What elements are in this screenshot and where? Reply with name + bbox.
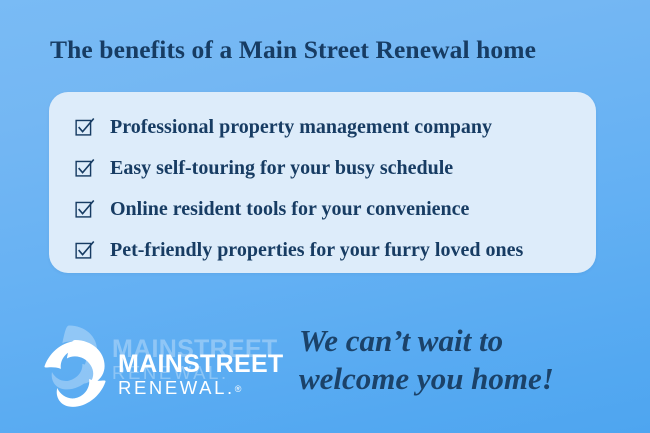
benefit-label: Professional property management company	[110, 116, 492, 138]
brand-logo-line2-text: RENEWAL.	[118, 377, 235, 398]
registered-trademark-icon: ®	[235, 384, 242, 394]
page-title: The benefits of a Main Street Renewal ho…	[50, 35, 610, 65]
checkbox-checked-icon	[75, 159, 94, 178]
brand-logo-solid-layer: MAINSTREET RENEWAL.®	[38, 332, 270, 416]
checkbox-checked-icon	[75, 118, 94, 137]
benefit-label: Easy self-touring for your busy schedule	[110, 157, 453, 179]
list-item: Pet-friendly properties for your furry l…	[75, 231, 582, 269]
benefit-label: Online resident tools for your convenien…	[110, 198, 469, 220]
list-item: Easy self-touring for your busy schedule	[75, 149, 582, 187]
list-item: Online resident tools for your convenien…	[75, 190, 582, 228]
mainstreet-pinwheel-logo-icon	[38, 337, 112, 411]
list-item: Professional property management company	[75, 108, 582, 146]
checkbox-checked-icon	[75, 200, 94, 219]
brand-logo-line1: MAINSTREET	[118, 351, 284, 377]
brand-logo-wordmark: MAINSTREET RENEWAL.®	[118, 348, 284, 400]
brand-logo-line2: RENEWAL.®	[118, 377, 284, 400]
promo-poster: The benefits of a Main Street Renewal ho…	[0, 0, 650, 433]
benefit-label: Pet-friendly properties for your furry l…	[110, 239, 523, 261]
tagline-line-1: We can’t wait to	[299, 322, 629, 360]
checkbox-checked-icon	[75, 241, 94, 260]
brand-logo: MAINSTREET RENEWAL. MAINSTREET RENEWAL.®	[38, 332, 270, 416]
tagline-line-2: welcome you home!	[299, 360, 629, 398]
benefits-card: Professional property management company…	[49, 92, 596, 273]
benefits-list: Professional property management company…	[75, 108, 582, 272]
tagline: We can’t wait to welcome you home!	[299, 322, 629, 398]
